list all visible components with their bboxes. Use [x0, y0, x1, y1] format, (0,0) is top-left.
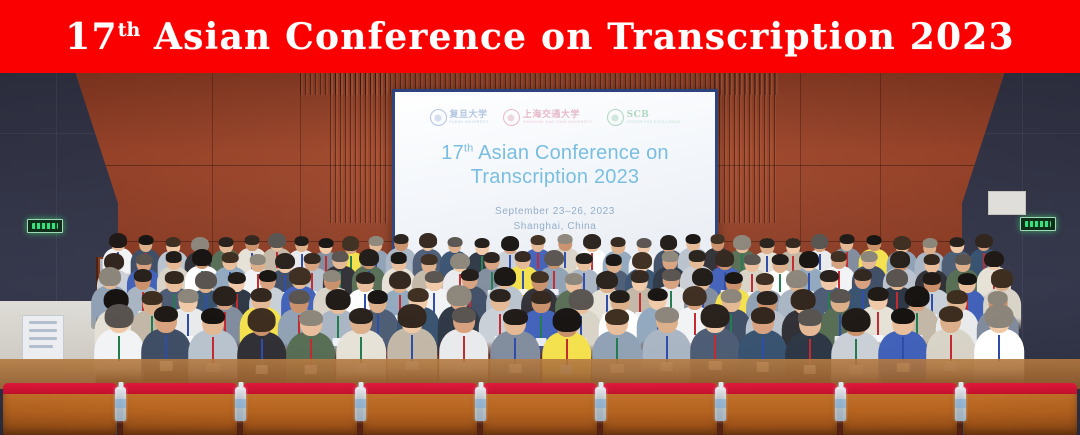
auditorium-chair [3, 383, 117, 435]
sjtu-seal-icon [503, 109, 520, 126]
attendee-lanyard [118, 336, 120, 362]
attendee-hair [349, 308, 373, 324]
attendee-hair [605, 309, 629, 325]
attendee-hair [154, 306, 178, 322]
auditorium-chair [123, 383, 237, 435]
auditorium-chair [483, 383, 597, 435]
attendee-hair [299, 310, 323, 326]
attendee-hair [552, 308, 581, 332]
attendee-hair [689, 250, 706, 261]
attendee-hair [138, 235, 153, 245]
attendee-hair [939, 306, 963, 322]
attendee-lanyard [165, 335, 167, 361]
logo-scb-cn: SCB [627, 111, 681, 120]
logo-fudan-cn: 复旦大学 [450, 111, 489, 120]
auditorium-chair [843, 383, 957, 435]
fudan-seal-icon [430, 109, 447, 126]
slide-title: 17th Asian Conference on Transcription 2… [441, 142, 668, 189]
sponsor-logo-row: 复旦大学 FUDAN UNIVERSITY 上海交通大学 SHANGHAI JI… [430, 109, 681, 126]
logo-scb: SCB CENTER FOR EXCELLENCE [607, 109, 681, 126]
attendee-hair [701, 304, 730, 328]
water-bottle [115, 387, 126, 421]
attendee-hair [398, 304, 427, 328]
slide-title-line2: Transcription 2023 [471, 166, 640, 188]
attendee-hair [452, 307, 476, 323]
attendee-hair [201, 308, 225, 324]
attendee-hair [192, 249, 212, 266]
attendee-hair [332, 251, 349, 262]
attendee-hair [503, 309, 527, 325]
slide-title-line1-rest: Asian Conference on [473, 142, 668, 164]
auditorium-chair [243, 383, 357, 435]
front-chair-row [0, 383, 1080, 435]
attendee-hair [985, 304, 1014, 328]
logo-fudan-en: FUDAN UNIVERSITY [450, 121, 489, 124]
attendee-lanyard [950, 335, 952, 361]
water-bottle [955, 387, 966, 421]
wall-slat-band [714, 73, 776, 223]
conference-photo-banner: 17th Asian Conference on Transcription 2… [0, 0, 1080, 435]
logo-sjtu-cn: 上海交通大学 [523, 111, 593, 120]
logo-scb-en: CENTER FOR EXCELLENCE [627, 121, 681, 124]
slide-title-number: 17 [441, 142, 464, 164]
banner-title: 17th Asian Conference on Transcription 2… [65, 19, 1015, 55]
wall-notice-sign [988, 191, 1026, 215]
attendee-hair [751, 307, 775, 323]
attendee-hair [323, 270, 341, 282]
water-bottle [595, 387, 606, 421]
logo-sjtu: 上海交通大学 SHANGHAI JIAO TONG UNIVERSITY [503, 109, 593, 126]
attendee-hair [576, 253, 593, 264]
attendee-lanyard [463, 336, 465, 362]
water-bottle [235, 387, 246, 421]
attendee-hair [222, 252, 239, 263]
attendee-lanyard [714, 335, 716, 361]
attendee-hair [133, 269, 151, 281]
banner-title-rest: Asian Conference on Transcription 2023 [140, 16, 1014, 58]
banner-ordinal-suffix: th [118, 19, 141, 41]
water-bottle [715, 387, 726, 421]
attendee-lanyard [998, 335, 1000, 361]
water-bottle [835, 387, 846, 421]
water-bottle [355, 387, 366, 421]
auditorium-chair [603, 383, 717, 435]
attendee-hair [247, 308, 276, 332]
auditorium-chair [363, 383, 477, 435]
attendee-lanyard [411, 335, 413, 361]
attendee-hair [165, 251, 182, 262]
title-banner: 17th Asian Conference on Transcription 2… [0, 0, 1080, 73]
banner-number: 17 [65, 16, 118, 58]
attendee-hair [390, 252, 407, 263]
attendee-hair [105, 304, 134, 328]
water-bottle [475, 387, 486, 421]
group-photo: 复旦大学 FUDAN UNIVERSITY 上海交通大学 SHANGHAI JI… [0, 73, 1080, 435]
slide-date: September 23–26, 2023 [495, 204, 615, 219]
auditorium-chair [963, 383, 1077, 435]
attendee-hair [447, 237, 462, 247]
logo-fudan: 复旦大学 FUDAN UNIVERSITY [430, 109, 489, 126]
attendee-hair [891, 308, 915, 324]
attendee-hair [798, 309, 822, 325]
wall-slat-band [330, 73, 390, 223]
attendee-hair [655, 307, 679, 323]
scb-seal-icon [607, 109, 624, 126]
attendee-hair [394, 234, 409, 244]
logo-sjtu-en: SHANGHAI JIAO TONG UNIVERSITY [523, 121, 593, 124]
attendee-hair [109, 233, 127, 248]
attendee-hair [842, 308, 871, 332]
auditorium-chair [723, 383, 837, 435]
